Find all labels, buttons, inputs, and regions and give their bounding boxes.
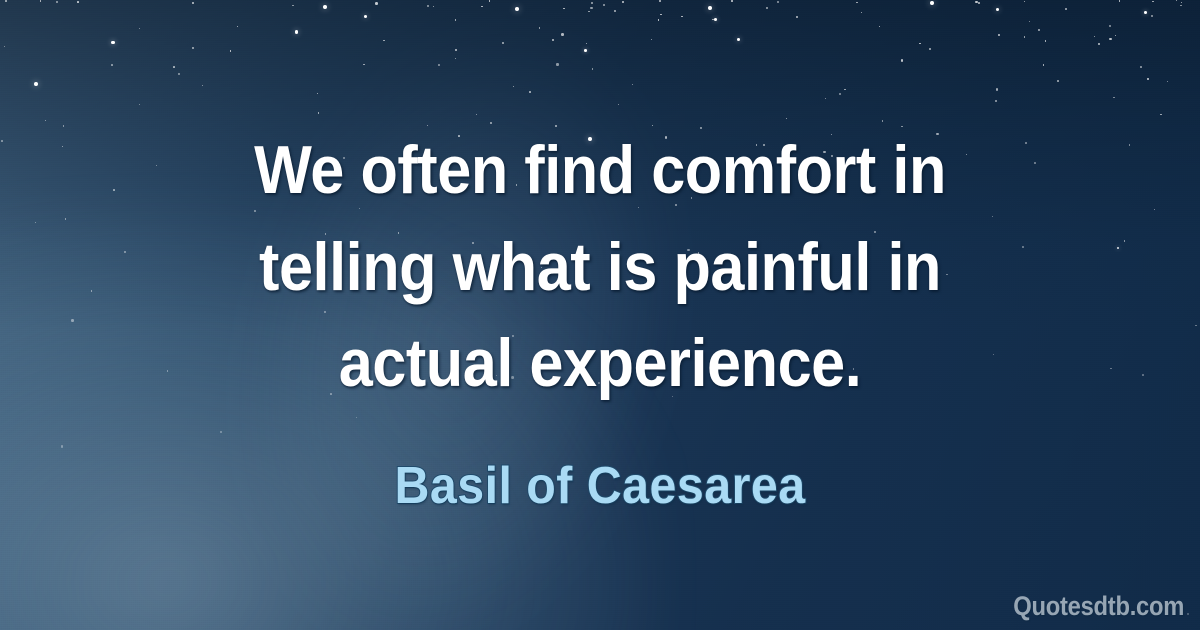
quote-author: Basil of Caesarea bbox=[394, 456, 805, 516]
quote-text: We often find comfort in telling what is… bbox=[204, 122, 996, 412]
card-content: We often find comfort in telling what is… bbox=[0, 0, 1200, 630]
site-watermark: Quotesdtb.com bbox=[1013, 591, 1184, 622]
quote-card: We often find comfort in telling what is… bbox=[0, 0, 1200, 630]
